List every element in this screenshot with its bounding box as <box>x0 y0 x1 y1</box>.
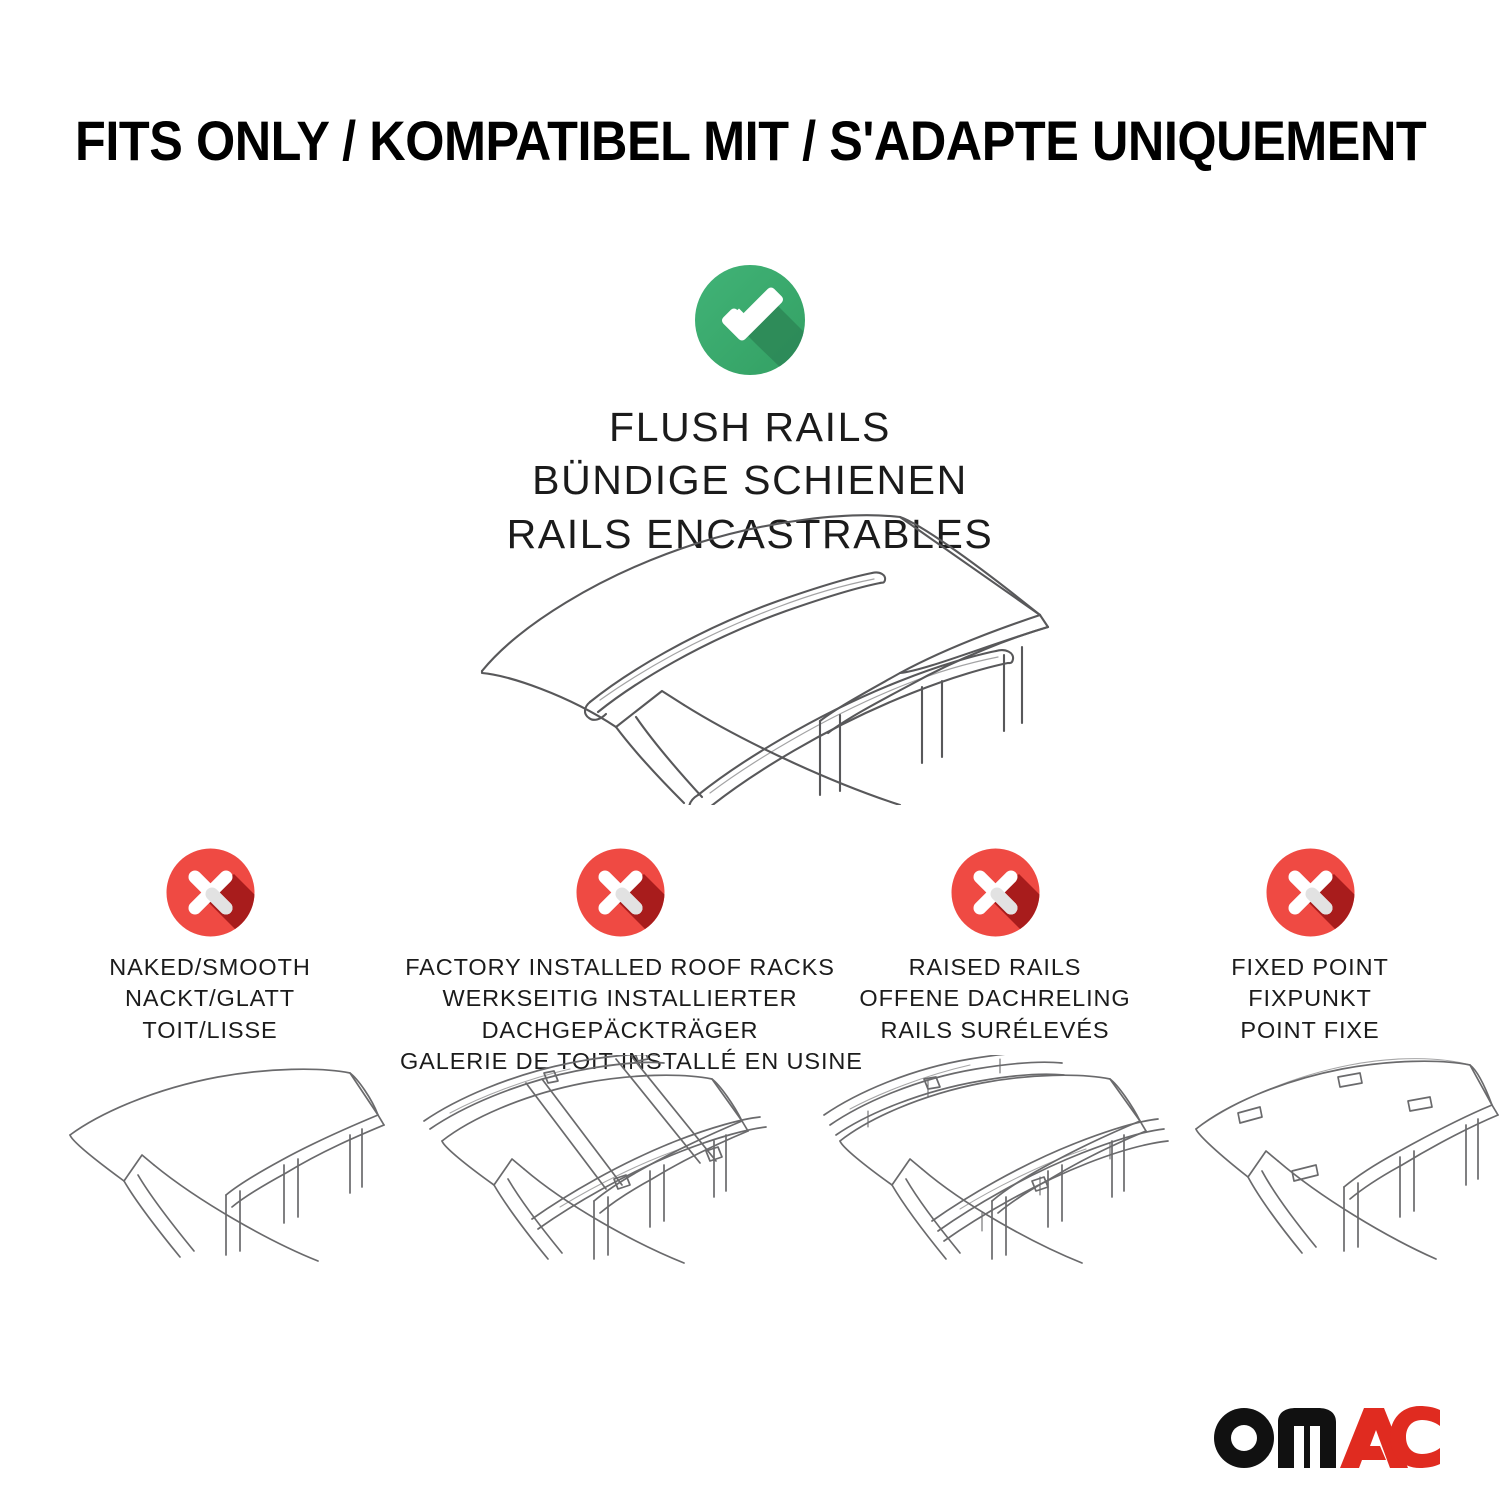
roof-illustration-row <box>0 1055 1500 1270</box>
incompatible-item-factory-rack: FACTORY INSTALLED ROOF RACKS WERKSEITIG … <box>400 846 840 1078</box>
label-fr: POINT FIXE <box>1165 1015 1455 1046</box>
x-circle-icon <box>400 846 840 942</box>
incompatible-labels-naked-smooth: NAKED/SMOOTH NACKT/GLATT TOIT/LISSE <box>60 952 360 1046</box>
incompatible-section: NAKED/SMOOTH NACKT/GLATT TOIT/LISSE <box>0 846 1500 1046</box>
label-de: OFFENE DACHRELING <box>840 983 1150 1014</box>
x-circle-icon <box>1165 846 1455 942</box>
label-fr: RAILS SURÉLEVÉS <box>840 1015 1150 1046</box>
car-roof-flush-rails-illustration <box>448 495 1068 805</box>
car-roof-fixed-point-illustration <box>1180 1055 1500 1275</box>
page-title: FITS ONLY / KOMPATIBEL MIT / S'ADAPTE UN… <box>75 108 1425 173</box>
x-circle-icon <box>840 846 1150 942</box>
label-en: NAKED/SMOOTH <box>60 952 360 983</box>
label-de: FIXPUNKT <box>1165 983 1455 1014</box>
label-de-1: WERKSEITIG INSTALLIERTER <box>400 983 840 1014</box>
car-roof-raised-rails-illustration <box>820 1055 1170 1275</box>
label-de-2: DACHGEPÄCKTRÄGER <box>400 1015 840 1046</box>
omac-logo <box>1212 1406 1442 1470</box>
incompatible-item-raised-rails: RAISED RAILS OFFENE DACHRELING RAILS SUR… <box>840 846 1150 1046</box>
label-de: NACKT/GLATT <box>60 983 360 1014</box>
check-circle-icon <box>0 262 1500 383</box>
compatible-label-en: FLUSH RAILS <box>0 401 1500 454</box>
incompatible-labels-fixed-point: FIXED POINT FIXPUNKT POINT FIXE <box>1165 952 1455 1046</box>
label-en: FIXED POINT <box>1165 952 1455 983</box>
x-circle-icon <box>60 846 360 942</box>
label-fr: TOIT/LISSE <box>60 1015 360 1046</box>
incompatible-item-naked-smooth: NAKED/SMOOTH NACKT/GLATT TOIT/LISSE <box>60 846 360 1046</box>
car-roof-naked-smooth-illustration <box>58 1055 403 1275</box>
label-en: RAISED RAILS <box>840 952 1150 983</box>
car-roof-factory-rack-illustration <box>420 1055 775 1275</box>
incompatible-item-fixed-point: FIXED POINT FIXPUNKT POINT FIXE <box>1165 846 1455 1046</box>
label-en: FACTORY INSTALLED ROOF RACKS <box>400 952 840 983</box>
incompatible-labels-raised-rails: RAISED RAILS OFFENE DACHRELING RAILS SUR… <box>840 952 1150 1046</box>
